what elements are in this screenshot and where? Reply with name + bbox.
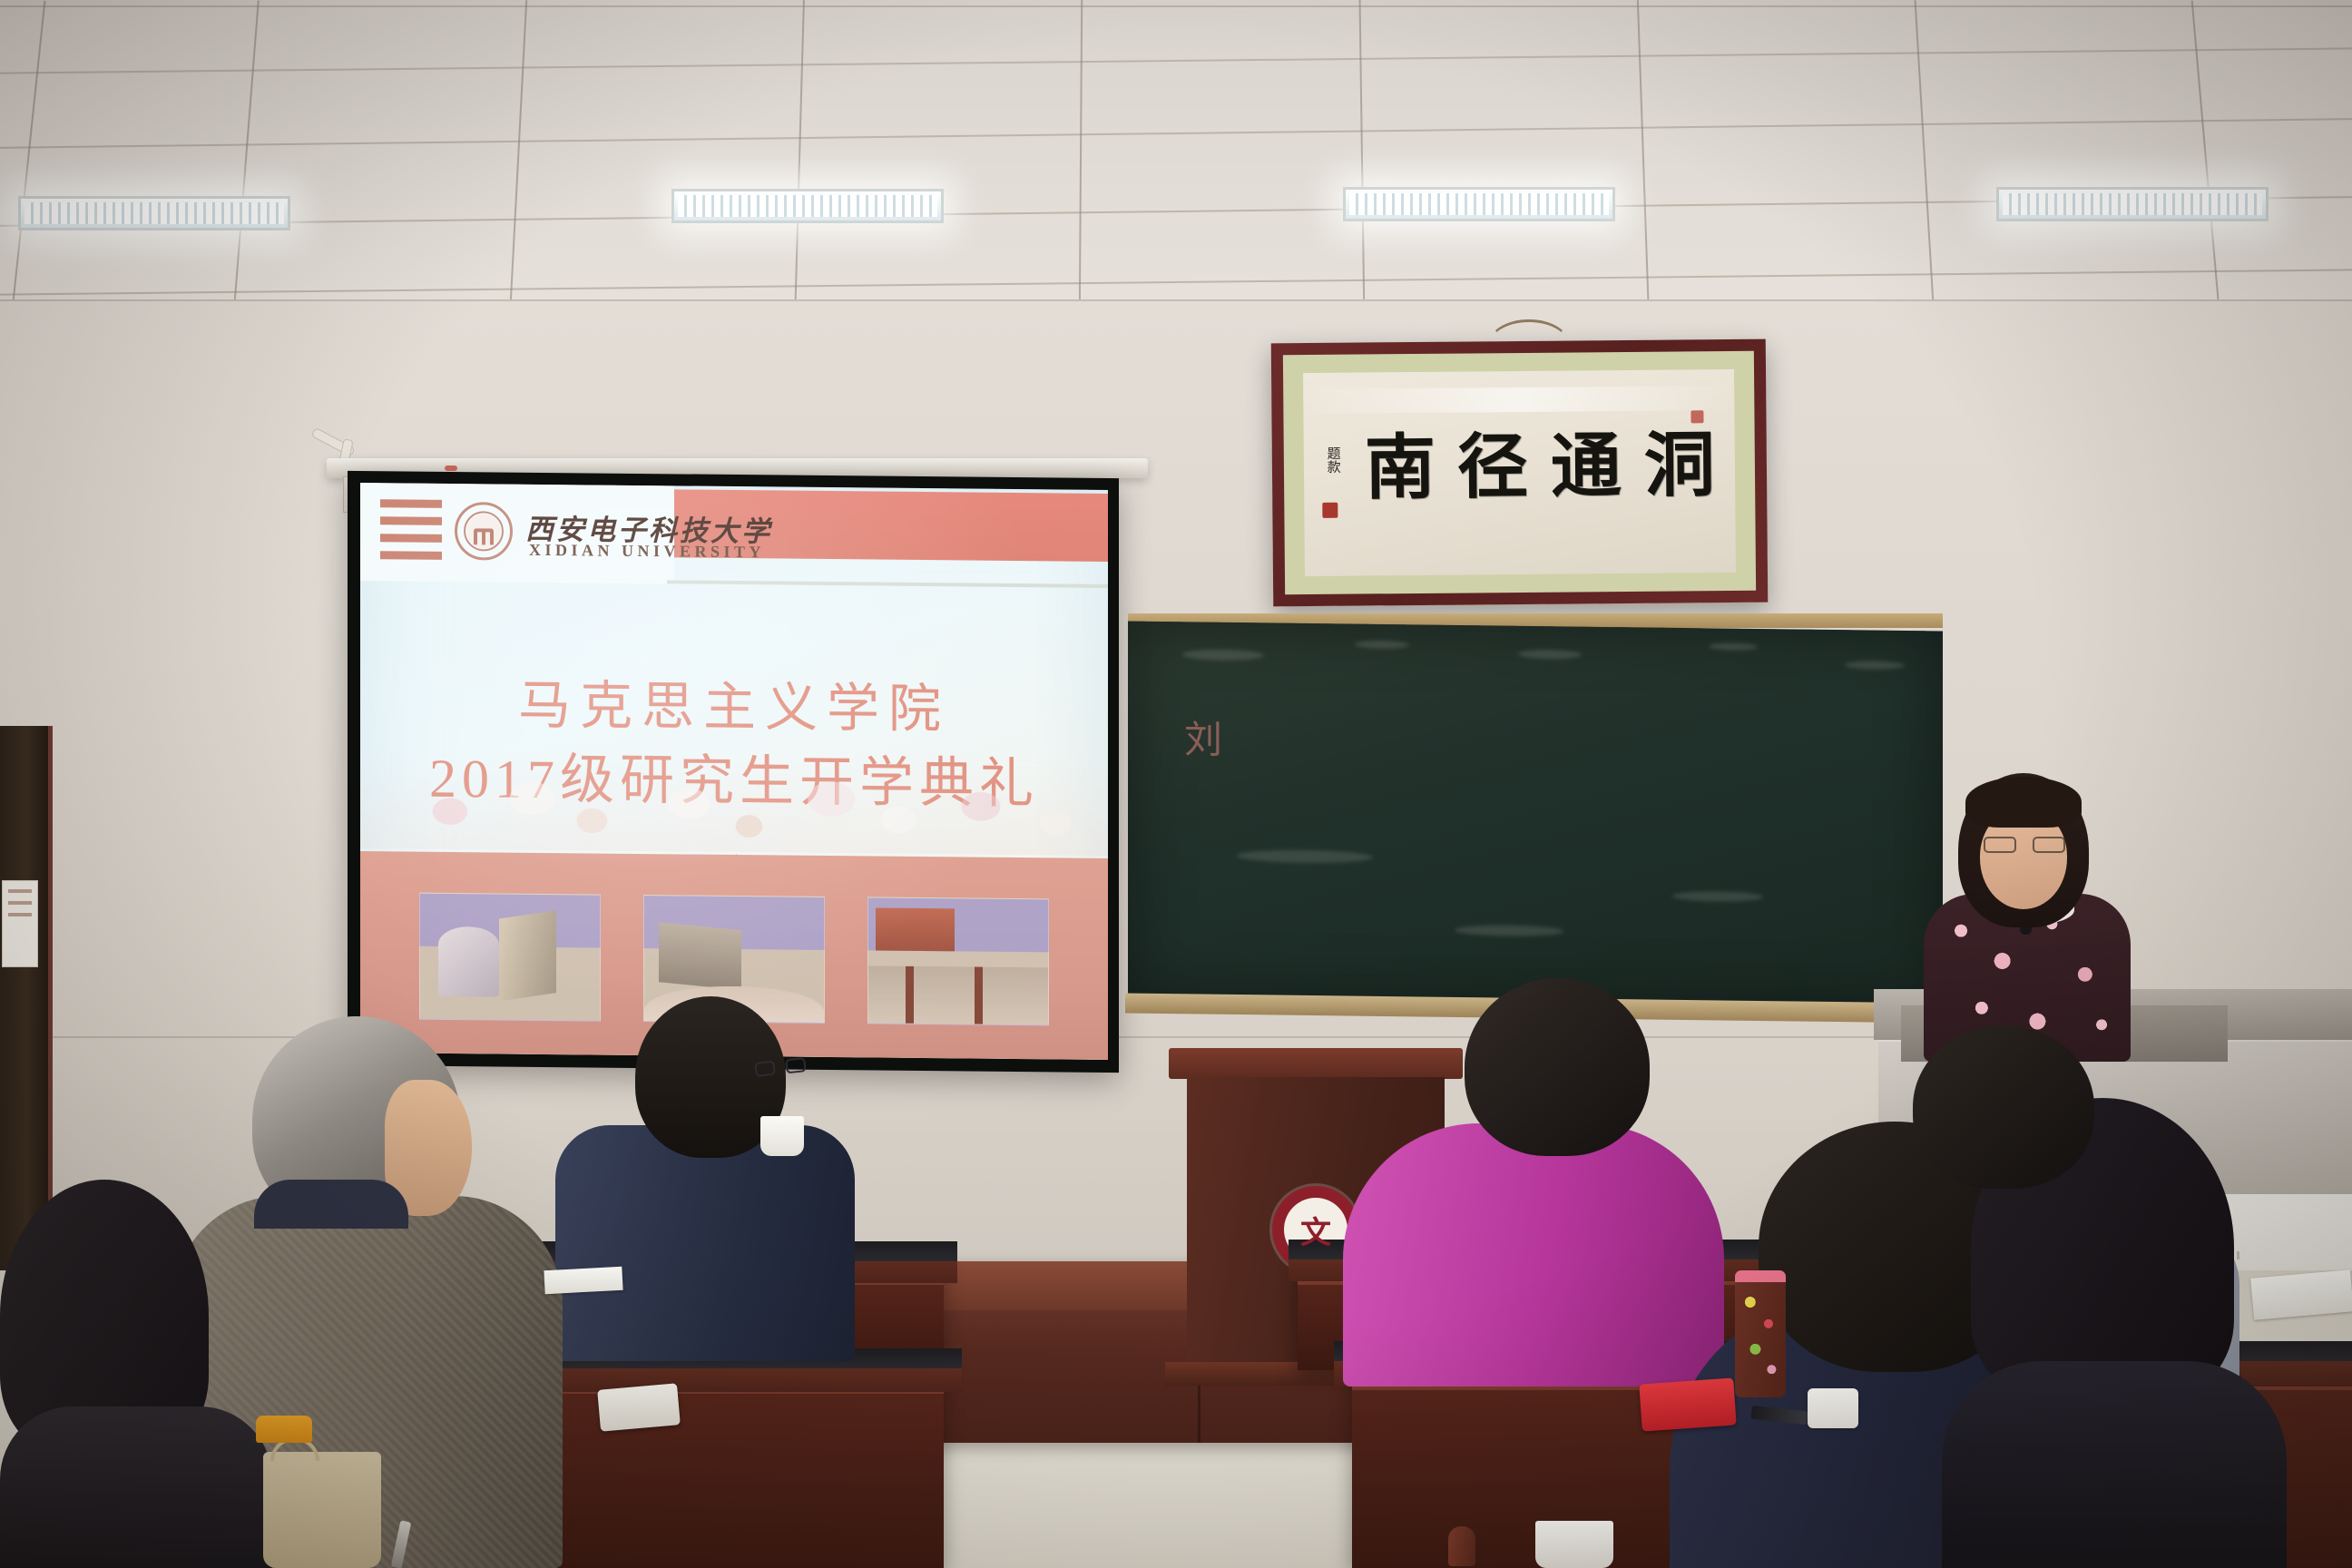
orange-thermos-cap <box>256 1416 312 1443</box>
calligraphy-signature: 题款 <box>1324 446 1341 473</box>
projection-screen[interactable]: 西安电子科技大学 XIDIAN UNIVERSITY 马克思主义学院 2017级… <box>348 471 1119 1073</box>
attendee-long-hair-body <box>0 1406 272 1568</box>
ceiling-light-3 <box>1343 187 1615 221</box>
paper-cup-table <box>1535 1521 1613 1568</box>
tissue-right <box>1808 1388 1858 1428</box>
door-notice-sign <box>2 880 38 967</box>
bench-knob-right-3 <box>1448 1526 1475 1566</box>
chalkboard-text: 刘 <box>1184 709 1222 765</box>
slide-header: 西安电子科技大学 XIDIAN UNIVERSITY <box>360 483 1108 584</box>
tote-bag <box>263 1452 381 1568</box>
calligraphy-mat: 洞 通 径 南 题款 <box>1283 351 1756 595</box>
campus-photo-1 <box>419 893 601 1022</box>
ceiling-light-1 <box>18 196 290 230</box>
speaker-fringe <box>1965 777 2082 828</box>
calligraphy-char-3: 径 <box>1457 432 1529 504</box>
university-name-en: XIDIAN UNIVERSITY <box>529 541 765 562</box>
attendee-grey-hair-collar <box>254 1180 408 1229</box>
calligraphy-char-2: 通 <box>1551 431 1622 503</box>
framed-calligraphy: 洞 通 径 南 题款 <box>1271 339 1769 607</box>
lectern-emblem-text: 文 <box>1300 1208 1331 1252</box>
attendee-magenta-polo-head <box>1465 978 1650 1156</box>
calligraphy-seal-secondary-icon <box>1690 410 1703 423</box>
calligraphy-paper: 洞 通 径 南 题款 <box>1303 369 1736 576</box>
slide-title-line1: 马克思主义学院 <box>360 661 1108 744</box>
presentation-slide: 西安电子科技大学 XIDIAN UNIVERSITY 马克思主义学院 2017级… <box>360 483 1108 1060</box>
calligraphy-char-4: 南 <box>1365 433 1436 505</box>
patterned-water-bottle <box>1735 1270 1786 1397</box>
attendee-navy-jacket-body <box>555 1125 855 1361</box>
red-smartphone[interactable] <box>1639 1377 1736 1431</box>
white-papers-left <box>544 1267 622 1294</box>
speaker-glasses-icon <box>1984 837 2065 853</box>
paper-cup-held <box>760 1116 804 1156</box>
floral-decoration <box>360 749 1108 856</box>
calligraphy-char-1: 洞 <box>1644 430 1716 502</box>
calligraphy-seal-icon <box>1322 503 1338 518</box>
attendee-magenta-polo-body <box>1343 1123 1724 1387</box>
white-papers-right <box>2250 1269 2352 1319</box>
green-chalkboard: 刘 <box>1128 622 1943 1013</box>
attendee-dark-hair-right-body <box>1942 1361 2287 1568</box>
xidian-seal-icon <box>455 502 513 561</box>
slide-bar-decoration <box>380 499 442 569</box>
classroom-scene: 西安电子科技大学 XIDIAN UNIVERSITY 马克思主义学院 2017级… <box>0 0 2352 1568</box>
campus-photo-3 <box>867 897 1049 1025</box>
ceiling <box>0 0 2352 319</box>
attendee-top-right-head <box>1913 1025 2094 1189</box>
ceiling-light-4 <box>1996 187 2269 221</box>
ceiling-light-2 <box>671 189 944 223</box>
white-smartphone[interactable] <box>597 1383 681 1431</box>
